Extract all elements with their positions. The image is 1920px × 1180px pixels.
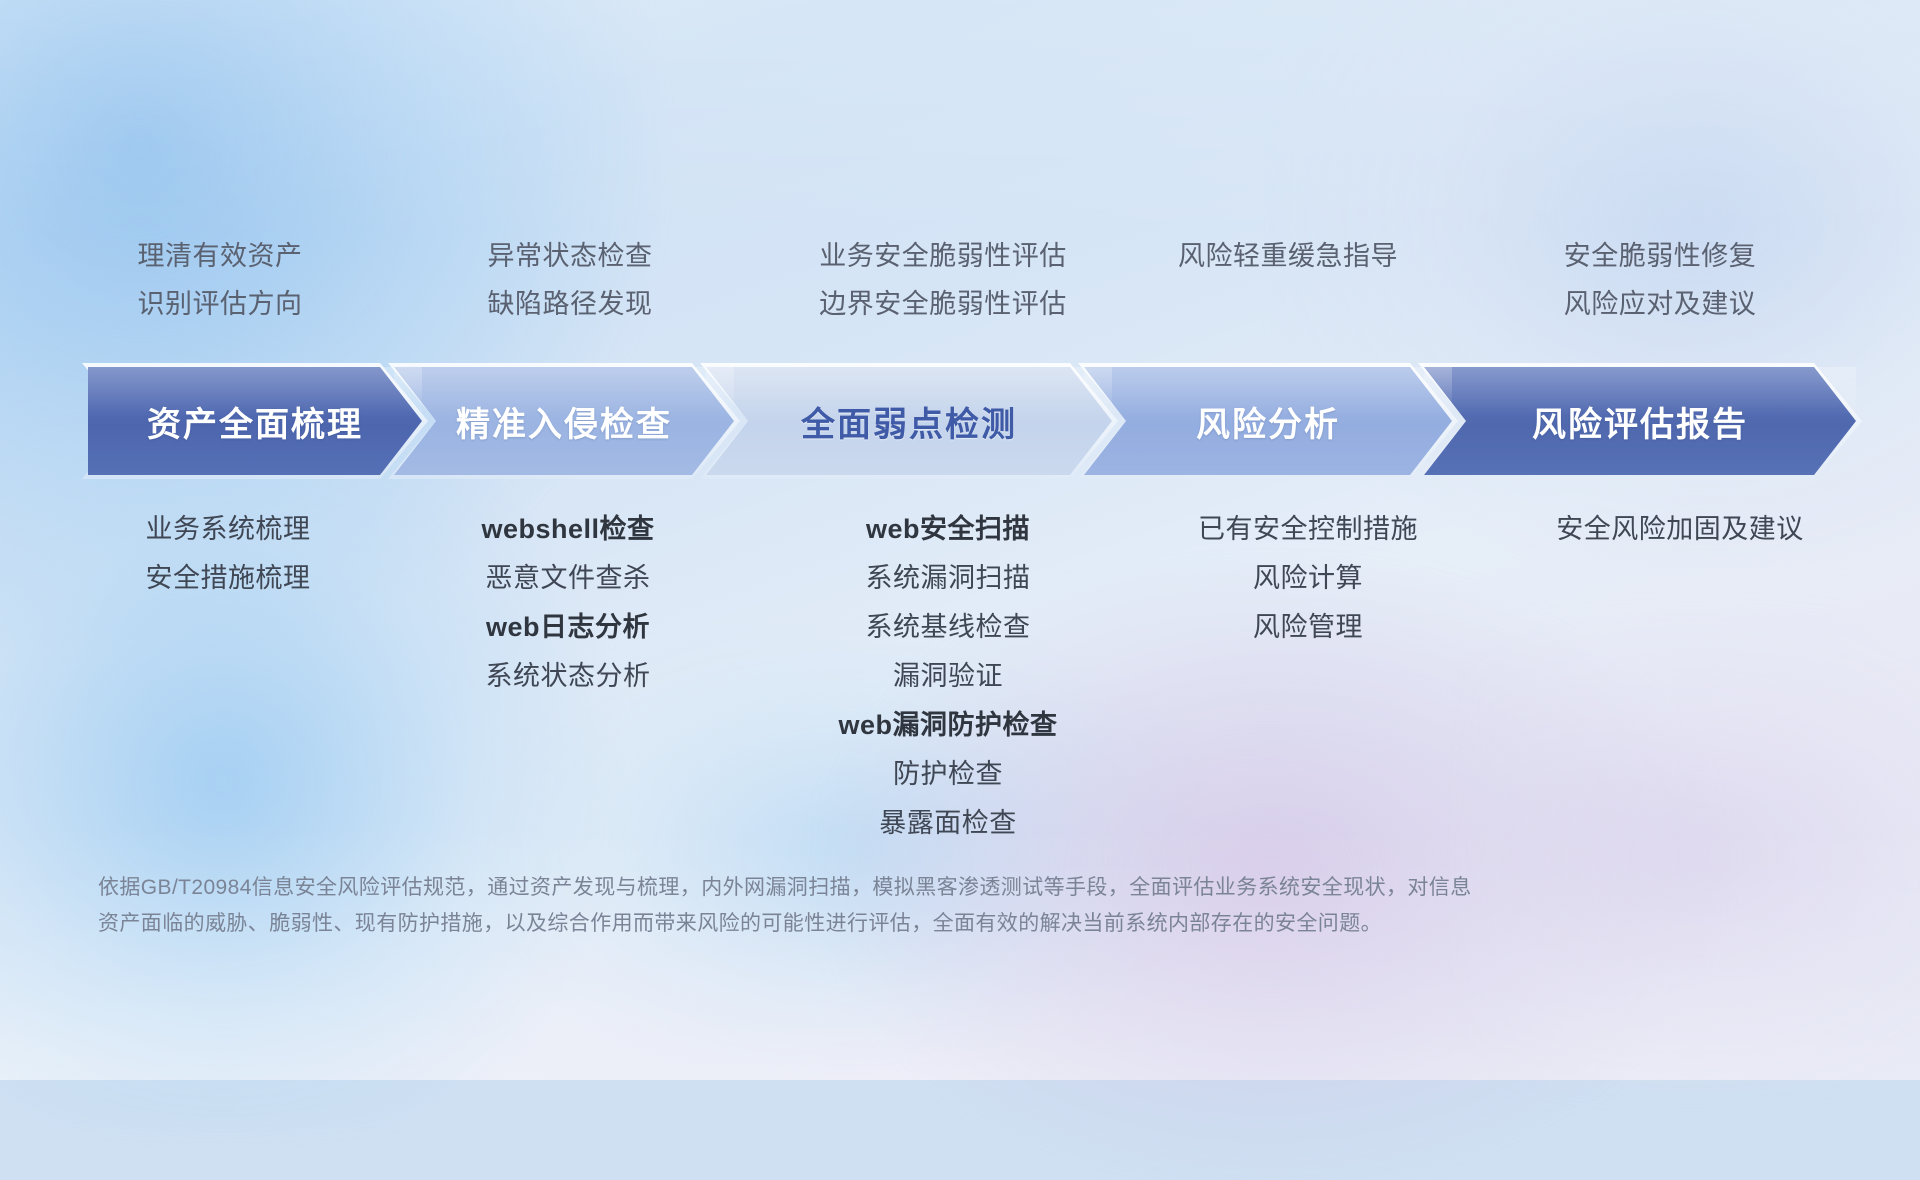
- stage-chevron-risk-analysis[interactable]: 风险分析: [1084, 367, 1452, 475]
- stage-chevron-weakness-detection[interactable]: 全面弱点检测: [706, 367, 1112, 475]
- bottom-item: 恶意文件查杀: [408, 554, 728, 603]
- top-item: 风险应对及建议: [1490, 280, 1830, 328]
- bottom-item: 系统漏洞扫描: [768, 554, 1128, 603]
- bottom-item: 风险计算: [1138, 554, 1478, 603]
- top-item: 识别评估方向: [60, 280, 380, 328]
- footer-description: 依据GB/T20984信息安全风险评估规范，通过资产发现与梳理，内外网漏洞扫描，…: [98, 870, 1658, 942]
- process-diagram: 理清有效资产 识别评估方向 异常状态检查 缺陷路径发现 业务安全脆弱性评估 边界…: [0, 0, 1920, 1080]
- top-item: 缺陷路径发现: [410, 280, 730, 328]
- stage-top-items-weakness-detection: 业务安全脆弱性评估 边界安全脆弱性评估: [758, 232, 1128, 328]
- top-item: 安全脆弱性修复: [1490, 232, 1830, 280]
- bottom-item: 系统状态分析: [408, 652, 728, 701]
- bottom-item: 暴露面检查: [768, 799, 1128, 848]
- bottom-item: 已有安全控制措施: [1138, 505, 1478, 554]
- footer-line: 资产面临的威胁、脆弱性、现有防护措施，以及综合作用而带来风险的可能性进行评估，全…: [98, 906, 1658, 942]
- bottom-item: web安全扫描: [768, 505, 1128, 554]
- bottom-item: webshell检查: [408, 505, 728, 554]
- stage-bottom-items-asset-inventory: 业务系统梳理 安全措施梳理: [68, 505, 388, 603]
- stage-top-items-asset-inventory: 理清有效资产 识别评估方向: [60, 232, 380, 328]
- bottom-item: 防护检查: [768, 750, 1128, 799]
- bottom-item: 安全措施梳理: [68, 554, 388, 603]
- stage-label: 精准入侵检查: [456, 397, 672, 446]
- stage-label: 风险分析: [1196, 397, 1340, 446]
- bottom-item: 系统基线检查: [768, 603, 1128, 652]
- bottom-item: 安全风险加固及建议: [1490, 505, 1870, 554]
- top-item: 理清有效资产: [60, 232, 380, 280]
- top-item: 风险轻重缓急指导: [1118, 232, 1458, 280]
- top-item: 异常状态检查: [410, 232, 730, 280]
- stage-bottom-items-risk-analysis: 已有安全控制措施 风险计算 风险管理: [1138, 505, 1478, 652]
- footer-line: 依据GB/T20984信息安全风险评估规范，通过资产发现与梳理，内外网漏洞扫描，…: [98, 870, 1658, 906]
- top-item: 业务安全脆弱性评估: [758, 232, 1128, 280]
- stage-label: 全面弱点检测: [801, 397, 1017, 446]
- stage-chevron-assessment-report[interactable]: 风险评估报告: [1424, 367, 1856, 475]
- process-stage-band: 资产全面梳理 精准入侵检查 全面弱点检测 风险分析 风险评估报告: [88, 367, 1856, 475]
- stage-top-items-risk-analysis: 风险轻重缓急指导: [1118, 232, 1458, 280]
- stage-top-items-intrusion-check: 异常状态检查 缺陷路径发现: [410, 232, 730, 328]
- bottom-item: 业务系统梳理: [68, 505, 388, 554]
- stage-bottom-items-assessment-report: 安全风险加固及建议: [1490, 505, 1870, 554]
- bottom-item: web漏洞防护检查: [768, 701, 1128, 750]
- stage-chevron-intrusion-check[interactable]: 精准入侵检查: [394, 367, 734, 475]
- bottom-item: 漏洞验证: [768, 652, 1128, 701]
- top-item: 边界安全脆弱性评估: [758, 280, 1128, 328]
- stage-bottom-items-intrusion-check: webshell检查 恶意文件查杀 web日志分析 系统状态分析: [408, 505, 728, 701]
- stage-bottom-items-weakness-detection: web安全扫描 系统漏洞扫描 系统基线检查 漏洞验证 web漏洞防护检查 防护检…: [768, 505, 1128, 848]
- stage-label: 资产全面梳理: [147, 397, 363, 446]
- stage-label: 风险评估报告: [1532, 397, 1748, 446]
- stage-chevron-asset-inventory[interactable]: 资产全面梳理: [88, 367, 422, 475]
- bottom-item: web日志分析: [408, 603, 728, 652]
- bottom-item: 风险管理: [1138, 603, 1478, 652]
- stage-top-items-assessment-report: 安全脆弱性修复 风险应对及建议: [1490, 232, 1830, 328]
